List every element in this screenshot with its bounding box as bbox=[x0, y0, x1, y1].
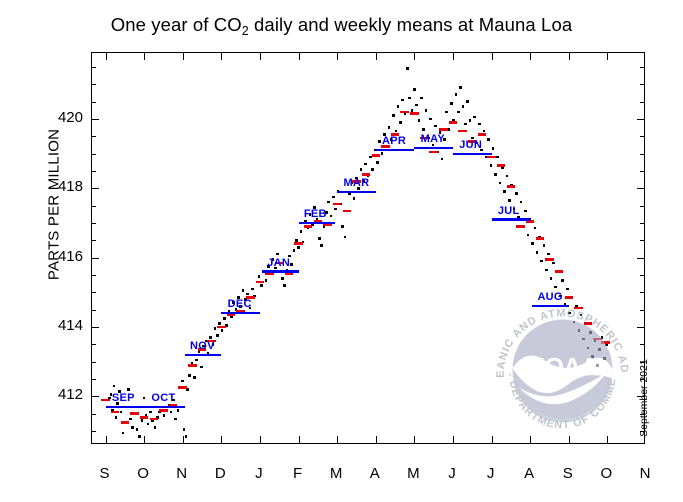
daily-mean-point bbox=[483, 130, 486, 133]
weekly-mean-segment bbox=[294, 242, 302, 245]
weekly-mean-segment bbox=[410, 112, 418, 115]
weekly-mean-segment bbox=[439, 128, 447, 131]
y-axis-tick bbox=[92, 119, 99, 120]
monthly-mean-line bbox=[337, 191, 376, 193]
x-axis-tick-label: N bbox=[630, 465, 660, 482]
daily-mean-point bbox=[392, 114, 395, 117]
daily-mean-point bbox=[330, 215, 333, 218]
daily-mean-point bbox=[418, 119, 421, 122]
daily-mean-point bbox=[295, 239, 298, 242]
daily-mean-point bbox=[459, 86, 462, 89]
weekly-mean-segment bbox=[429, 151, 437, 154]
page-title: One year of CO2 daily and weekly means a… bbox=[0, 14, 683, 36]
x-axis-tick-label: O bbox=[128, 465, 158, 482]
weekly-mean-segment bbox=[507, 185, 515, 188]
y-axis-tick-label: 416 bbox=[39, 248, 83, 265]
x-axis-tick-label: M bbox=[398, 465, 428, 482]
weekly-mean-segment bbox=[140, 416, 148, 419]
weekly-mean-segment bbox=[121, 421, 129, 424]
y-axis-minor-tick bbox=[92, 84, 96, 85]
daily-mean-point bbox=[515, 192, 518, 195]
x-axis-tick-label: O bbox=[591, 465, 621, 482]
x-axis-tick-label: F bbox=[283, 465, 313, 482]
daily-mean-point bbox=[200, 366, 203, 369]
daily-mean-point bbox=[406, 67, 409, 70]
y-axis-minor-tick bbox=[640, 67, 644, 68]
y-axis-minor-tick bbox=[92, 431, 96, 432]
daily-mean-point bbox=[547, 253, 550, 256]
y-axis-tick-label: 418 bbox=[39, 178, 83, 195]
y-axis-minor-tick bbox=[92, 223, 96, 224]
daily-mean-point bbox=[496, 156, 499, 159]
x-axis-tick bbox=[221, 436, 222, 443]
x-axis-tick-label: D bbox=[205, 465, 235, 482]
x-axis-tick bbox=[299, 436, 300, 443]
x-axis-tick bbox=[106, 53, 107, 60]
daily-mean-point bbox=[174, 418, 177, 421]
y-axis-minor-tick bbox=[640, 84, 644, 85]
daily-mean-point bbox=[360, 168, 363, 171]
weekly-mean-segment bbox=[178, 386, 186, 389]
weekly-mean-segment bbox=[497, 164, 505, 167]
daily-mean-point bbox=[364, 163, 367, 166]
daily-mean-point bbox=[136, 428, 139, 431]
daily-mean-point bbox=[251, 288, 254, 291]
y-axis-minor-tick bbox=[92, 154, 96, 155]
daily-mean-point bbox=[450, 102, 453, 105]
daily-mean-point bbox=[214, 327, 217, 330]
x-axis-tick bbox=[569, 53, 570, 60]
daily-mean-point bbox=[260, 284, 263, 287]
monthly-mean-line bbox=[453, 153, 492, 155]
daily-mean-point bbox=[122, 432, 125, 435]
daily-mean-point bbox=[300, 230, 303, 233]
y-axis-minor-tick bbox=[92, 344, 96, 345]
y-axis-tick bbox=[92, 327, 99, 328]
weekly-mean-segment bbox=[256, 281, 264, 284]
y-axis-tick bbox=[92, 258, 99, 259]
monthly-mean-line bbox=[144, 406, 185, 408]
daily-mean-point bbox=[193, 376, 196, 379]
month-label: JUN bbox=[459, 139, 482, 151]
weekly-mean-segment bbox=[516, 225, 524, 228]
y-axis-minor-tick bbox=[640, 379, 644, 380]
monthly-mean-line bbox=[492, 218, 531, 220]
daily-mean-point bbox=[353, 197, 356, 200]
month-label: NOV bbox=[190, 340, 215, 352]
weekly-mean-segment bbox=[400, 111, 408, 114]
x-axis-tick-label: J bbox=[437, 465, 467, 482]
daily-mean-point bbox=[395, 130, 398, 133]
y-axis-minor-tick bbox=[640, 223, 644, 224]
y-axis-minor-tick bbox=[92, 206, 96, 207]
daily-mean-point bbox=[131, 426, 134, 429]
daily-mean-point bbox=[195, 359, 198, 362]
daily-mean-point bbox=[341, 225, 344, 228]
x-axis-tick bbox=[106, 436, 107, 443]
y-axis-tick bbox=[637, 327, 644, 328]
monthly-mean-line bbox=[262, 270, 299, 272]
y-axis-minor-tick bbox=[640, 431, 644, 432]
monthly-mean-line bbox=[376, 149, 415, 151]
daily-mean-point bbox=[183, 428, 186, 431]
monthly-mean-line bbox=[221, 312, 260, 314]
weekly-mean-segment bbox=[449, 121, 457, 124]
daily-mean-point bbox=[242, 289, 245, 292]
daily-mean-point bbox=[415, 104, 418, 107]
daily-mean-point bbox=[344, 236, 347, 239]
daily-mean-point bbox=[163, 414, 166, 417]
daily-mean-point bbox=[397, 105, 400, 108]
weekly-mean-segment bbox=[536, 237, 544, 240]
daily-mean-point bbox=[221, 329, 224, 332]
y-axis-minor-tick bbox=[640, 171, 644, 172]
daily-mean-point bbox=[506, 175, 509, 178]
x-axis-tick-label: S bbox=[90, 465, 120, 482]
daily-mean-point bbox=[543, 244, 546, 247]
x-axis-tick bbox=[414, 53, 415, 60]
y-axis-minor-tick bbox=[640, 414, 644, 415]
title-suffix: daily and weekly means at Mauna Loa bbox=[249, 14, 572, 35]
y-axis-tick bbox=[92, 188, 99, 189]
daily-mean-point bbox=[332, 196, 335, 199]
daily-mean-point bbox=[534, 227, 537, 230]
daily-mean-point bbox=[434, 125, 437, 128]
x-axis-tick bbox=[376, 53, 377, 60]
daily-mean-point bbox=[554, 286, 557, 289]
daily-mean-point bbox=[141, 419, 144, 422]
daily-mean-point bbox=[524, 210, 527, 213]
weekly-mean-segment bbox=[304, 225, 312, 228]
weekly-mean-segment bbox=[372, 154, 380, 157]
daily-mean-point bbox=[129, 418, 132, 421]
month-label: MAY bbox=[421, 133, 445, 145]
y-axis-minor-tick bbox=[92, 379, 96, 380]
daily-mean-point bbox=[177, 409, 180, 412]
x-axis-tick bbox=[453, 53, 454, 60]
y-axis-minor-tick bbox=[92, 310, 96, 311]
y-axis-minor-tick bbox=[640, 206, 644, 207]
daily-mean-point bbox=[223, 317, 226, 320]
x-axis-tick bbox=[221, 53, 222, 60]
y-axis-tick-label: 420 bbox=[39, 109, 83, 126]
y-axis-minor-tick bbox=[92, 414, 96, 415]
y-axis-minor-tick bbox=[640, 136, 644, 137]
y-axis-minor-tick bbox=[92, 240, 96, 241]
weekly-mean-segment bbox=[150, 418, 158, 421]
y-axis-minor-tick bbox=[92, 171, 96, 172]
y-axis-tick bbox=[637, 119, 644, 120]
daily-mean-point bbox=[429, 118, 432, 121]
daily-mean-point bbox=[540, 260, 543, 263]
logo-wordmark: NOAA bbox=[527, 353, 598, 381]
weekly-mean-segment bbox=[487, 156, 495, 159]
title-subscript: 2 bbox=[242, 24, 249, 38]
month-label: APR bbox=[382, 135, 406, 147]
daily-mean-point bbox=[318, 237, 321, 240]
title-prefix: One year of CO bbox=[111, 14, 242, 35]
daily-mean-point bbox=[170, 411, 173, 414]
x-axis-tick-label: M bbox=[321, 465, 351, 482]
y-axis-tick-label: 414 bbox=[39, 317, 83, 334]
month-label: DEC bbox=[228, 298, 252, 310]
x-axis-tick bbox=[607, 53, 608, 60]
chart-page: One year of CO2 daily and weekly means a… bbox=[0, 0, 683, 502]
weekly-mean-segment bbox=[159, 409, 167, 412]
y-axis-minor-tick bbox=[92, 136, 96, 137]
daily-mean-point bbox=[388, 126, 391, 129]
x-axis-tick bbox=[414, 436, 415, 443]
daily-mean-point bbox=[464, 123, 467, 126]
y-axis-minor-tick bbox=[640, 362, 644, 363]
y-axis-minor-tick bbox=[92, 67, 96, 68]
daily-mean-point bbox=[457, 111, 460, 114]
daily-mean-point bbox=[503, 190, 506, 193]
daily-mean-point bbox=[113, 385, 116, 388]
daily-mean-point bbox=[494, 173, 497, 176]
x-axis-tick-label: N bbox=[167, 465, 197, 482]
daily-mean-point bbox=[508, 199, 511, 202]
month-label: SEP bbox=[112, 392, 135, 404]
daily-mean-point bbox=[545, 269, 548, 272]
daily-mean-point bbox=[149, 411, 152, 414]
y-axis-minor-tick bbox=[640, 154, 644, 155]
y-axis-minor-tick bbox=[640, 240, 644, 241]
x-axis-tick bbox=[260, 436, 261, 443]
daily-mean-point bbox=[401, 99, 404, 102]
x-axis-tick bbox=[299, 53, 300, 60]
month-label: JAN bbox=[267, 257, 290, 269]
x-axis-tick-label: J bbox=[244, 465, 274, 482]
x-axis-tick bbox=[376, 436, 377, 443]
daily-mean-point bbox=[520, 201, 523, 204]
daily-mean-point bbox=[185, 435, 188, 438]
monthly-mean-line bbox=[414, 147, 453, 149]
daily-mean-point bbox=[381, 152, 384, 155]
daily-mean-point bbox=[473, 116, 476, 119]
daily-mean-point bbox=[334, 208, 337, 211]
daily-mean-point bbox=[218, 322, 221, 325]
daily-mean-point bbox=[147, 423, 150, 426]
daily-mean-point bbox=[265, 279, 268, 282]
x-axis-tick bbox=[144, 436, 145, 443]
daily-mean-point bbox=[225, 324, 228, 327]
weekly-mean-segment bbox=[333, 203, 341, 206]
daily-mean-point bbox=[283, 284, 286, 287]
daily-mean-point bbox=[552, 262, 555, 265]
daily-mean-point bbox=[258, 275, 261, 278]
y-axis-minor-tick bbox=[640, 102, 644, 103]
y-axis-minor-tick bbox=[640, 292, 644, 293]
daily-mean-point bbox=[448, 128, 451, 131]
y-axis-minor-tick bbox=[640, 275, 644, 276]
daily-mean-point bbox=[320, 244, 323, 247]
x-axis-tick-label: A bbox=[514, 465, 544, 482]
weekly-mean-segment bbox=[101, 399, 109, 402]
daily-mean-point bbox=[246, 293, 249, 296]
y-axis-tick bbox=[637, 258, 644, 259]
month-label: JUL bbox=[498, 205, 520, 217]
daily-mean-point bbox=[536, 251, 539, 254]
monthly-mean-line bbox=[299, 222, 336, 224]
daily-mean-point bbox=[411, 109, 414, 112]
daily-mean-point bbox=[115, 416, 118, 419]
x-axis-tick bbox=[337, 53, 338, 60]
weekly-mean-segment bbox=[111, 411, 119, 414]
weekly-mean-segment bbox=[130, 412, 138, 415]
daily-mean-point bbox=[425, 109, 428, 112]
y-axis-minor-tick bbox=[92, 102, 96, 103]
daily-mean-point bbox=[422, 128, 425, 131]
x-axis-tick-label: A bbox=[360, 465, 390, 482]
y-axis-tick bbox=[92, 396, 99, 397]
month-label: MAR bbox=[343, 177, 369, 189]
daily-mean-point bbox=[181, 380, 184, 383]
daily-mean-point bbox=[445, 111, 448, 114]
daily-mean-point bbox=[527, 234, 530, 237]
monthly-mean-line bbox=[106, 406, 145, 408]
daily-mean-point bbox=[413, 88, 416, 91]
weekly-mean-segment bbox=[478, 133, 486, 136]
daily-mean-point bbox=[120, 411, 123, 414]
y-axis-tick-label: 412 bbox=[39, 386, 83, 403]
y-axis-minor-tick bbox=[92, 275, 96, 276]
daily-mean-point bbox=[462, 105, 465, 108]
daily-mean-point bbox=[154, 426, 157, 429]
daily-mean-point bbox=[371, 168, 374, 171]
daily-mean-point bbox=[478, 123, 481, 126]
daily-mean-point bbox=[466, 100, 469, 103]
y-axis-tick bbox=[637, 396, 644, 397]
weekly-mean-segment bbox=[217, 326, 225, 329]
daily-mean-point bbox=[487, 138, 490, 141]
daily-mean-point bbox=[499, 182, 502, 185]
x-axis-tick-label: S bbox=[553, 465, 583, 482]
y-axis-minor-tick bbox=[92, 292, 96, 293]
daily-mean-point bbox=[376, 161, 379, 164]
daily-mean-point bbox=[138, 435, 141, 438]
daily-mean-point bbox=[490, 164, 493, 167]
weekly-mean-segment bbox=[555, 270, 563, 273]
daily-mean-point bbox=[293, 249, 296, 252]
daily-mean-point bbox=[399, 121, 402, 124]
daily-mean-point bbox=[561, 279, 564, 282]
month-label: OCT bbox=[151, 392, 175, 404]
y-axis-tick bbox=[637, 188, 644, 189]
daily-mean-point bbox=[188, 374, 191, 377]
daily-mean-point bbox=[127, 388, 130, 391]
daily-mean-point bbox=[290, 263, 293, 266]
monthly-mean-line bbox=[185, 354, 222, 356]
weekly-mean-segment bbox=[362, 173, 370, 176]
daily-mean-point bbox=[327, 201, 330, 204]
x-axis-tick bbox=[492, 53, 493, 60]
weekly-mean-segment bbox=[545, 258, 553, 261]
x-axis-tick bbox=[453, 436, 454, 443]
daily-mean-point bbox=[420, 97, 423, 100]
y-axis-minor-tick bbox=[640, 310, 644, 311]
daily-mean-point bbox=[297, 246, 300, 249]
daily-mean-point bbox=[378, 140, 381, 143]
x-axis-tick bbox=[260, 53, 261, 60]
daily-mean-point bbox=[216, 334, 219, 337]
x-axis-tick-label: J bbox=[476, 465, 506, 482]
daily-mean-point bbox=[455, 93, 458, 96]
daily-mean-point bbox=[209, 336, 212, 339]
daily-mean-point bbox=[469, 119, 472, 122]
daily-mean-point bbox=[408, 97, 411, 100]
y-axis-label: PARTS PER MILLION bbox=[46, 55, 63, 355]
weekly-mean-segment bbox=[343, 210, 351, 213]
daily-mean-point bbox=[276, 253, 279, 256]
daily-mean-point bbox=[492, 147, 495, 150]
x-axis-tick bbox=[337, 436, 338, 443]
x-axis-tick bbox=[530, 53, 531, 60]
noaa-logo: NATIONAL OCEANIC AND ATMOSPHERIC ADMINIS… bbox=[489, 296, 636, 443]
x-axis-tick bbox=[144, 53, 145, 60]
daily-mean-point bbox=[531, 242, 534, 245]
daily-mean-point bbox=[281, 277, 284, 280]
daily-mean-point bbox=[566, 288, 569, 291]
weekly-mean-segment bbox=[188, 364, 196, 367]
weekly-mean-segment bbox=[458, 130, 466, 133]
daily-mean-point bbox=[143, 397, 146, 400]
month-label: FEB bbox=[304, 208, 327, 220]
y-axis-minor-tick bbox=[640, 344, 644, 345]
y-axis-minor-tick bbox=[92, 362, 96, 363]
daily-mean-point bbox=[550, 277, 553, 280]
x-axis-tick bbox=[183, 53, 184, 60]
daily-mean-point bbox=[441, 158, 444, 161]
